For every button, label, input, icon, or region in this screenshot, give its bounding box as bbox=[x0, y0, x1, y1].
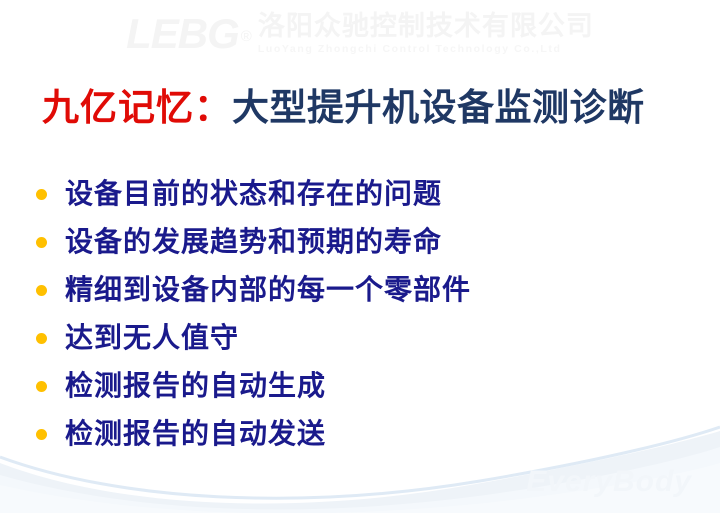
company-watermark: LEBG ® 洛阳众驰控制技术有限公司 LuoYang Zhongchi Con… bbox=[0, 6, 720, 62]
list-item: 达到无人值守 bbox=[30, 314, 710, 362]
list-item: 检测报告的自动生成 bbox=[30, 362, 710, 410]
list-item: 设备目前的状态和存在的问题 bbox=[30, 170, 710, 218]
bullet-dot-icon bbox=[36, 429, 47, 440]
watermark-company-en: LuoYang Zhongchi Control Technology Co.,… bbox=[258, 44, 594, 55]
bullet-item-label: 检测报告的自动发送 bbox=[65, 419, 326, 450]
lebg-logo: LEBG bbox=[126, 13, 239, 55]
title-highlight: 九亿记忆： bbox=[42, 85, 232, 129]
bullet-dot-icon bbox=[36, 381, 47, 392]
bullet-dot-icon bbox=[36, 333, 47, 344]
list-item: 设备的发展趋势和预期的寿命 bbox=[30, 218, 710, 266]
bullet-dot-icon bbox=[36, 285, 47, 296]
footer-decoration-word: EveryBody bbox=[526, 465, 692, 499]
bullet-item-label: 设备的发展趋势和预期的寿命 bbox=[65, 227, 442, 258]
title-rest: 大型提升机设备监测诊断 bbox=[232, 85, 645, 129]
slide-title: 九亿记忆：大型提升机设备监测诊断 bbox=[42, 84, 702, 130]
bullet-list: 设备目前的状态和存在的问题设备的发展趋势和预期的寿命精细到设备内部的每一个零部件… bbox=[30, 170, 710, 458]
watermark-company-cn: 洛阳众驰控制技术有限公司 bbox=[258, 13, 594, 40]
list-item: 检测报告的自动发送 bbox=[30, 410, 710, 458]
slide-canvas: LEBG ® 洛阳众驰控制技术有限公司 LuoYang Zhongchi Con… bbox=[0, 0, 720, 513]
bullet-dot-icon bbox=[36, 189, 47, 200]
watermark-company-block: 洛阳众驰控制技术有限公司 LuoYang Zhongchi Control Te… bbox=[258, 13, 594, 55]
bullet-dot-icon bbox=[36, 237, 47, 248]
list-item: 精细到设备内部的每一个零部件 bbox=[30, 266, 710, 314]
registered-trademark-icon: ® bbox=[241, 28, 252, 45]
bullet-item-label: 设备目前的状态和存在的问题 bbox=[65, 179, 442, 210]
bullet-item-label: 达到无人值守 bbox=[65, 323, 239, 354]
wave-shape-front bbox=[0, 463, 720, 513]
bullet-item-label: 精细到设备内部的每一个零部件 bbox=[65, 275, 471, 306]
bullet-item-label: 检测报告的自动生成 bbox=[65, 371, 326, 402]
